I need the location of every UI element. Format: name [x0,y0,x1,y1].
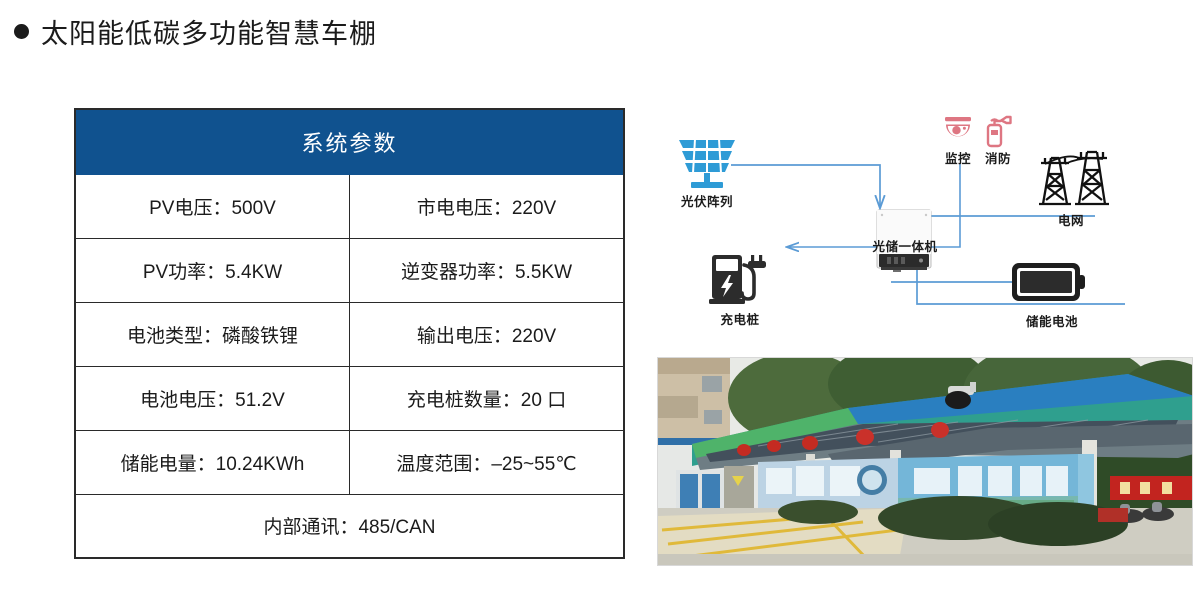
power-tower-icon [1029,144,1113,214]
cell-grid-voltage: 市电电压：220V [350,174,625,238]
pv-array-label: 光伏阵列 [659,191,755,210]
cell-pv-voltage: PV电压：500V [75,174,350,238]
cell-temperature-range: 温度范围：–25~55℃ [350,430,625,494]
cell-output-voltage: 输出电压：220V [350,302,625,366]
monitor-label: 监控 [937,148,979,167]
page-title-text: 太阳能低碳多功能智慧车棚 [41,12,377,51]
charger-label: 充电桩 [695,309,785,328]
cell-pv-power: PV功率：5.4KW [75,238,350,302]
system-parameters-table: 系统参数 PV电压：500V 市电电压：220V PV功率：5.4KW 逆变器功… [74,108,625,559]
cell-battery-voltage: 电池电压：51.2V [75,366,350,430]
table-row: 电池电压：51.2V 充电桩数量：20 口 [75,366,624,430]
slide-page: 太阳能低碳多功能智慧车棚 系统参数 PV电压：500V 市电电压：220V PV… [0,0,1200,605]
table-header-row: 系统参数 [75,109,624,174]
system-flow-diagram: 光伏阵列 监控 消防 [655,104,1195,344]
solar-panel-icon [671,136,743,194]
fire-extinguisher-icon [982,114,1014,148]
bullet-dot-icon [14,24,29,39]
cell-battery-type: 电池类型：磷酸铁锂 [75,302,350,366]
inverter-label: 光储一体机 [857,236,953,255]
battery-icon [1010,259,1094,307]
cell-internal-comm: 内部通讯：485/CAN [75,494,624,558]
cctv-camera-icon [942,115,974,147]
fire-label: 消防 [977,148,1019,167]
table-row: PV电压：500V 市电电压：220V [75,174,624,238]
table-row: PV功率：5.4KW 逆变器功率：5.5KW [75,238,624,302]
grid-label: 电网 [1029,210,1113,229]
table-row: 电池类型：磷酸铁锂 输出电压：220V [75,302,624,366]
table-row: 储能电量：10.24KWh 温度范围：–25~55℃ [75,430,624,494]
charging-pile-icon [707,252,771,310]
cell-storage-capacity: 储能电量：10.24KWh [75,430,350,494]
cell-charger-count: 充电桩数量：20 口 [350,366,625,430]
solar-carport-photo [657,357,1193,566]
table-row: 内部通讯：485/CAN [75,494,624,558]
cell-inverter-power: 逆变器功率：5.5KW [350,238,625,302]
table-header-title: 系统参数 [75,109,624,174]
battery-label: 储能电池 [1005,311,1099,330]
page-title: 太阳能低碳多功能智慧车棚 [14,12,377,51]
